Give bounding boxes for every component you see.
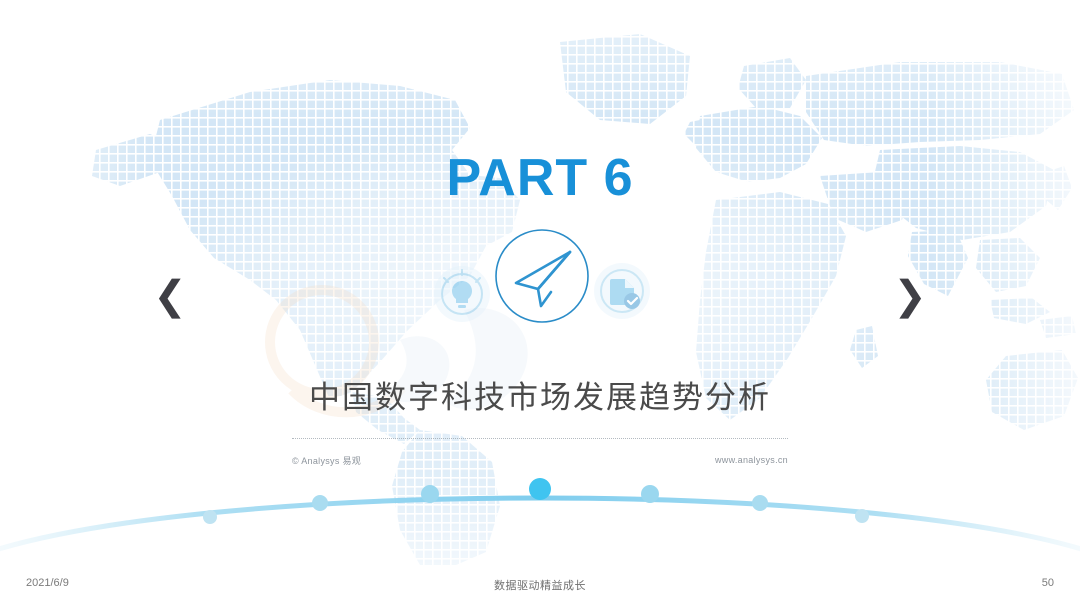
progress-dot[interactable] bbox=[203, 510, 217, 524]
progress-arc bbox=[0, 455, 1080, 565]
lightbulb-icon bbox=[432, 264, 492, 324]
progress-dot-active[interactable] bbox=[529, 478, 551, 500]
next-arrow-icon[interactable]: ❯ bbox=[888, 272, 932, 320]
part-heading: PART 6 bbox=[0, 148, 1080, 208]
progress-dot[interactable] bbox=[421, 485, 439, 503]
document-check-icon bbox=[592, 261, 652, 321]
progress-dot[interactable] bbox=[752, 495, 768, 511]
slide-canvas: PART 6 bbox=[0, 0, 1080, 608]
progress-dot[interactable] bbox=[855, 509, 869, 523]
prev-arrow-icon[interactable]: ❮ bbox=[148, 272, 192, 320]
divider-line bbox=[292, 438, 788, 440]
progress-dot-group bbox=[203, 478, 869, 524]
progress-dot[interactable] bbox=[312, 495, 328, 511]
progress-arc-svg bbox=[0, 455, 1080, 565]
section-title: 中国数字科技市场发展趋势分析 bbox=[0, 372, 1080, 417]
icon-cluster bbox=[410, 228, 670, 360]
footer-slogan: 数据驱动精益成长 bbox=[0, 577, 1080, 593]
bottom-status-bar: 2021/6/9 数据驱动精益成长 50 bbox=[0, 565, 1080, 608]
footer-page-number: 50 bbox=[1042, 577, 1054, 589]
progress-dot[interactable] bbox=[641, 485, 659, 503]
paper-plane-icon bbox=[494, 228, 590, 324]
